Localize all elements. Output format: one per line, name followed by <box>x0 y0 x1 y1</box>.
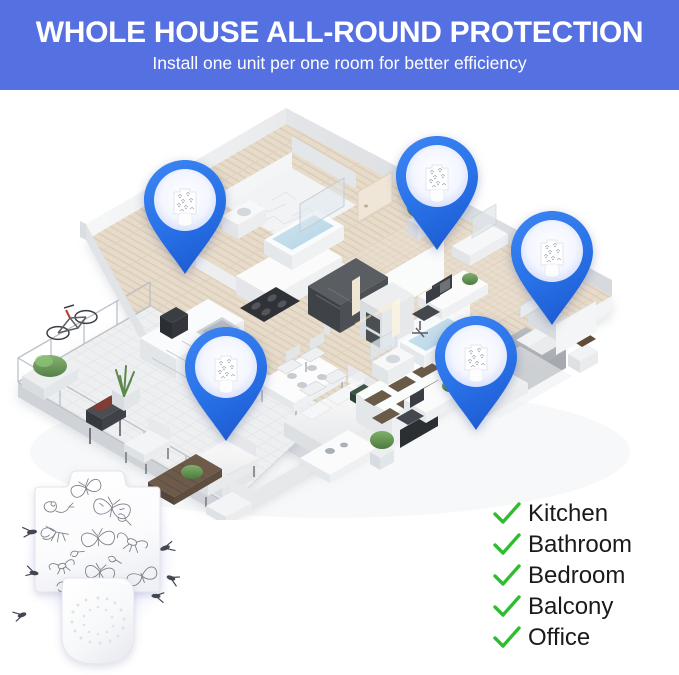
room-checklist: Kitchen Bathroom Bedroom Balcony Office <box>492 498 679 653</box>
map-pin-bathroom[interactable] <box>393 134 481 252</box>
check-icon <box>492 563 522 589</box>
map-pin-balcony[interactable] <box>182 325 270 443</box>
checklist-label: Balcony <box>528 595 613 619</box>
scene-area: Kitchen Bathroom Bedroom Balcony Office <box>0 90 679 675</box>
map-pin-office[interactable] <box>432 314 520 432</box>
map-pin-icon <box>182 325 270 443</box>
check-icon <box>492 594 522 620</box>
map-pin-icon <box>141 158 229 276</box>
checklist-label: Kitchen <box>528 502 608 526</box>
check-icon <box>492 532 522 558</box>
page-title: WHOLE HOUSE ALL-ROUND PROTECTION <box>36 18 644 48</box>
plug-base-unit <box>62 578 134 664</box>
checklist-label: Bedroom <box>528 564 625 588</box>
balcony-bicycle <box>47 305 97 339</box>
map-pin-icon <box>508 209 596 327</box>
checklist-item-bathroom: Bathroom <box>492 529 679 560</box>
map-pin-kitchen[interactable] <box>141 158 229 276</box>
check-icon <box>492 625 522 651</box>
checklist-label: Bathroom <box>528 533 632 557</box>
map-pin-icon <box>393 134 481 252</box>
checklist-item-balcony: Balcony <box>492 591 679 622</box>
map-pin-bedroom[interactable] <box>508 209 596 327</box>
check-icon <box>492 501 522 527</box>
product-hero <box>8 460 193 675</box>
map-pin-icon <box>432 314 520 432</box>
checklist-item-office: Office <box>492 622 679 653</box>
checklist-item-kitchen: Kitchen <box>492 498 679 529</box>
page-subtitle: Install one unit per one room for better… <box>152 55 526 73</box>
checklist-item-bedroom: Bedroom <box>492 560 679 591</box>
product-illustration <box>8 460 193 675</box>
glue-board <box>35 471 160 596</box>
checklist-label: Office <box>528 626 590 650</box>
header-banner: WHOLE HOUSE ALL-ROUND PROTECTION Install… <box>0 0 679 90</box>
